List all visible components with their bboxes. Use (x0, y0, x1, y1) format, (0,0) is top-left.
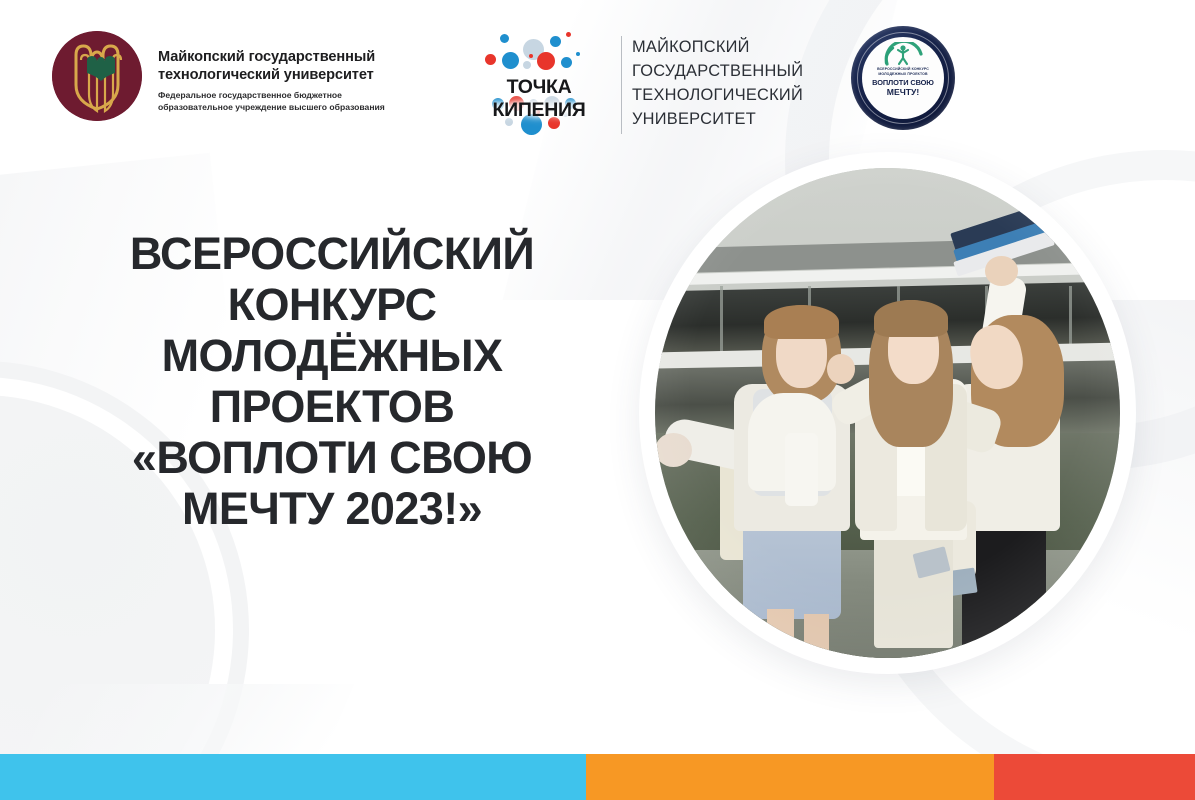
university-line-1: МАЙКОПСКИЙ (632, 36, 803, 60)
boiling-point-logo: ТОЧКА КИПЕНИЯ (466, 30, 612, 134)
footer-color-bars (0, 754, 1195, 800)
header-divider (621, 36, 622, 134)
contest-seal-badge-icon: ВСЕРОССИЙСКИЙ КОНКУРС МОЛОДЕЖНЫХ ПРОЕКТО… (851, 26, 955, 130)
mgtu-name: Майкопский государственный технологическ… (158, 48, 413, 84)
three-happy-students-photo (655, 168, 1120, 658)
mgtu-logo (52, 31, 142, 121)
mgtu-shield-seal-icon (52, 31, 142, 121)
header-logo-row: Майкопский государственный технологическ… (0, 0, 1195, 148)
headline-line-6: МЕЧТУ 2023!» (62, 483, 602, 534)
university-name-block: МАЙКОПСКИЙ ГОСУДАРСТВЕННЫЙ ТЕХНОЛОГИЧЕСК… (632, 36, 803, 132)
boiling-point-wordmark: ТОЧКА КИПЕНИЯ (466, 76, 612, 122)
badge-main-line-1: ВОПЛОТИ СВОЮ (872, 79, 934, 88)
poster-canvas: Майкопский государственный технологическ… (0, 0, 1195, 800)
university-line-4: УНИВЕРСИТЕТ (632, 108, 803, 132)
mgtu-subtitle: Федеральное государственное бюджетное об… (158, 89, 413, 113)
badge-figure-icon (881, 42, 925, 66)
badge-tiny-line-2: МОЛОДЕЖНЫХ ПРОЕКТОВ (878, 72, 927, 76)
headline-line-4: ПРОЕКТОВ (62, 381, 602, 432)
university-line-2: ГОСУДАРСТВЕННЫЙ (632, 60, 803, 84)
headline-line-1: ВСЕРОССИЙСКИЙ (62, 228, 602, 279)
mgtu-text-block: Майкопский государственный технологическ… (158, 48, 413, 114)
decorative-sheen-bottom-left (26, 684, 354, 754)
badge-main-line-2: МЕЧТУ! (887, 88, 919, 97)
bar-cyan (0, 754, 586, 800)
poster-headline: ВСЕРОССИЙСКИЙ КОНКУРС МОЛОДЁЖНЫХ ПРОЕКТО… (62, 228, 602, 534)
badge-tiny-line-1: ВСЕРОССИЙСКИЙ КОНКУРС (877, 67, 929, 71)
university-line-3: ТЕХНОЛОГИЧЕСКИЙ (632, 84, 803, 108)
headline-line-2: КОНКУРС (62, 279, 602, 330)
badge-core: ВСЕРОССИЙСКИЙ КОНКУРС МОЛОДЕЖНЫХ ПРОЕКТО… (862, 37, 944, 119)
bar-red (994, 754, 1195, 800)
headline-line-5: «ВОПЛОТИ СВОЮ (62, 432, 602, 483)
bar-orange (586, 754, 994, 800)
headline-line-3: МОЛОДЁЖНЫХ (62, 330, 602, 381)
